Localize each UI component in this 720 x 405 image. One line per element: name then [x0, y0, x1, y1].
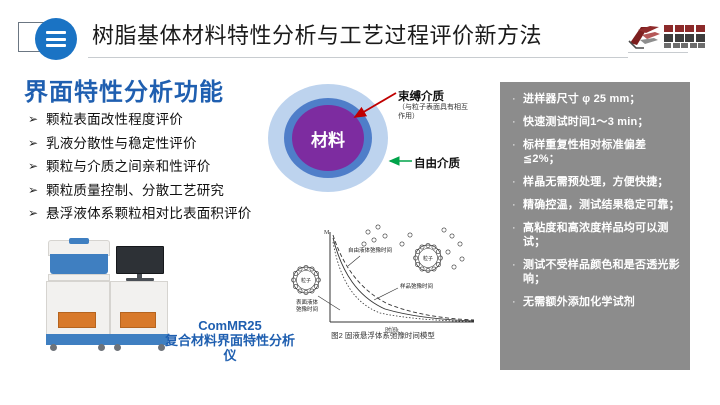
bound-medium-label: 束缚介质: [398, 88, 444, 104]
rog-eye-icon: [628, 24, 662, 50]
list-item: ➢ 颗粒质量控制、分散工艺研究: [28, 183, 298, 198]
bullet-dot-icon: ·: [512, 295, 523, 309]
instrument-monitor: [116, 246, 164, 274]
list-item-label: 颗粒表面改性程度评价: [46, 112, 183, 127]
organization-logo: [628, 22, 706, 52]
menu-button[interactable]: [35, 18, 77, 60]
instrument-photo: [36, 238, 176, 358]
instrument-top-handle: [69, 238, 89, 244]
list-item: · 进样器尺寸 φ 25 mm；: [512, 92, 684, 106]
list-item-label: 快速测试时间1～3 min；: [523, 115, 649, 129]
material-core-label: 材料: [292, 105, 364, 171]
slide-header: 树脂基体材料特性分析与工艺过程评价新方法: [0, 0, 720, 58]
chart-leader-free: [348, 256, 360, 266]
header-divider: [88, 57, 628, 58]
list-item: · 无需额外添加化学试剂: [512, 295, 684, 309]
list-item-label: 进样器尺寸 φ 25 mm；: [523, 92, 641, 106]
svg-text:粒子: 粒子: [301, 277, 311, 284]
instrument-top-drawer: [50, 254, 108, 274]
bullet-dot-icon: ·: [512, 115, 523, 129]
bullet-dot-icon: ·: [512, 92, 523, 106]
list-item-label: 标样重复性相对标准偏差 ≦2%；: [523, 138, 684, 166]
list-item: · 测试不受样品颜色和是否透光影响；: [512, 258, 684, 286]
medium-structure-diagram: 材料: [268, 84, 388, 192]
chart-annotation-free: 自由液体弛豫时间: [348, 246, 392, 254]
instrument-right-window: [120, 312, 156, 328]
list-item-label: 乳液分散性与稳定性评价: [46, 136, 197, 151]
chart-annotation-sample: 样品弛豫时间: [400, 282, 433, 290]
list-item-label: 高粘度和高浓度样品均可以测试；: [523, 221, 684, 249]
list-item: · 精确控温，测试结果稳定可靠；: [512, 198, 684, 212]
bullet-dot-icon: ·: [512, 138, 523, 152]
chart-annotation-surface2: 弛豫时间: [296, 305, 318, 313]
bullet-arrow-icon: ➢: [28, 159, 46, 174]
logo-wordmark: [664, 25, 708, 47]
list-item-label: 无需额外添加化学试剂: [523, 295, 635, 309]
list-item: ➢ 颗粒表面改性程度评价: [28, 112, 298, 127]
bullet-dot-icon: ·: [512, 198, 523, 212]
list-item-label: 精确控温，测试结果稳定可靠；: [523, 198, 680, 212]
particle-right-icon: 粒子: [414, 243, 443, 272]
instrument-wheel: [114, 344, 121, 351]
instrument-model: ComMR25: [162, 318, 298, 333]
list-item: ➢ 颗粒与介质之间亲和性评价: [28, 159, 298, 174]
instrument-wheel: [50, 344, 57, 351]
bullet-dot-icon: ·: [512, 175, 523, 189]
page-title: 树脂基体材料特性分析与工艺过程评价新方法: [92, 18, 542, 50]
instrument-caption: ComMR25 复合材料界面特性分析仪: [162, 318, 298, 363]
list-item-label: 测试不受样品颜色和是否透光影响；: [523, 258, 684, 286]
svg-text:粒子: 粒子: [423, 255, 433, 262]
particle-left-icon: 粒子: [292, 265, 321, 294]
chart-y-label: M: [324, 230, 330, 236]
bullet-arrow-icon: ➢: [28, 112, 46, 127]
free-medium-label: 自由介质: [414, 155, 460, 171]
instrument-wheel: [98, 344, 105, 351]
header-divider-right: [628, 52, 688, 53]
specs-list: · 进样器尺寸 φ 25 mm； · 快速测试时间1～3 min； · 标样重复…: [512, 92, 684, 318]
list-item-label: 颗粒质量控制、分散工艺研究: [46, 183, 224, 198]
bullet-arrow-icon: ➢: [28, 136, 46, 151]
chart-leader-surface: [318, 296, 340, 310]
instrument-name: 复合材料界面特性分析仪: [162, 333, 298, 363]
monitor-stand-base: [126, 278, 154, 281]
list-item: · 快速测试时间1～3 min；: [512, 115, 684, 129]
bullet-dot-icon: ·: [512, 258, 523, 272]
list-item: ➢ 悬浮液体系颗粒相对比表面积评价: [28, 206, 298, 221]
feature-bullet-list: ➢ 颗粒表面改性程度评价 ➢ 乳液分散性与稳定性评价 ➢ 颗粒与介质之间亲和性评…: [28, 112, 298, 230]
bound-medium-sublabel: （与粒子表面具有相互作用）: [398, 103, 472, 121]
bullet-dot-icon: ·: [512, 221, 523, 235]
instrument-top-base: [48, 274, 110, 281]
chart-annotation-surface: 表面液体: [296, 298, 319, 306]
list-item: ➢ 乳液分散性与稳定性评价: [28, 136, 298, 151]
list-item: · 高粘度和高浓度样品均可以测试；: [512, 221, 684, 249]
list-item-label: 悬浮液体系颗粒相对比表面积评价: [46, 206, 252, 221]
list-item-label: 样晶无需预处理，方便快捷；: [523, 175, 669, 189]
material-core-circle: 材料: [292, 105, 364, 171]
list-item: · 标样重复性相对标准偏差 ≦2%；: [512, 138, 684, 166]
bullet-arrow-icon: ➢: [28, 183, 46, 198]
chart-leader-sample: [374, 288, 398, 300]
list-item: · 样晶无需预处理，方便快捷；: [512, 175, 684, 189]
chart-caption: 图2 固液悬浮体系弛豫时间模型: [288, 330, 478, 341]
hamburger-icon: [35, 18, 77, 60]
section-title: 界面特性分析功能: [24, 72, 224, 107]
free-molecules: [362, 225, 464, 269]
list-item-label: 颗粒与介质之间亲和性评价: [46, 159, 210, 174]
instrument-left-window: [58, 312, 96, 328]
slide-root: 树脂基体材料特性分析与工艺过程评价新方法 界面特性分析功能 ➢ 颗粒表面改性程度…: [0, 0, 720, 405]
bullet-arrow-icon: ➢: [28, 206, 46, 221]
